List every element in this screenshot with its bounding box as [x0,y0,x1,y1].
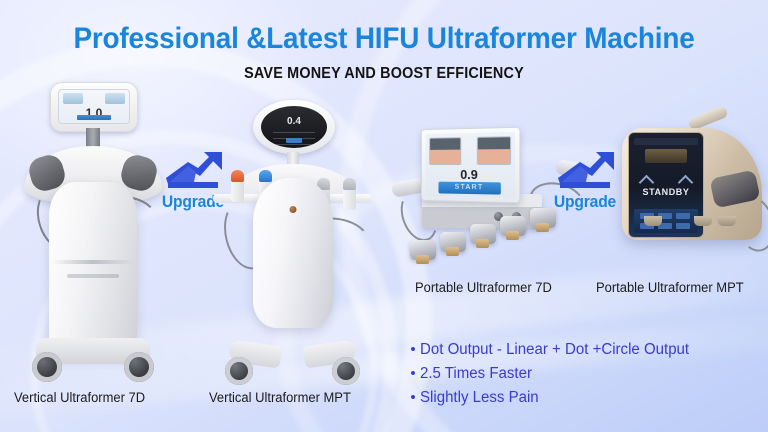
feature-item: • 2.5 Times Faster [406,364,766,383]
v7d-caster-left [32,352,62,382]
vmpt-display-ring: 0.4 [253,100,335,154]
feature-list: • Dot Output - Linear + Dot +Circle Outp… [406,340,766,412]
pmpt-cartridge-info [645,149,687,163]
v7d-thumbnail-left [63,93,83,104]
vmpt-handpiece-blue-cap [259,170,272,182]
bullet-icon: • [406,388,420,407]
pmpt-display-screen: STANDBY [628,132,704,238]
pmpt-foot-right [718,216,736,226]
v7d-progress-bar [77,115,111,120]
pmpt-foot-middle [694,216,712,226]
pmpt-status-bar [634,138,698,145]
p7d-cartridge-4 [500,216,526,236]
pmpt-key-6 [676,223,690,229]
vmpt-tower-body [253,178,333,328]
vmpt-action-button [286,138,302,143]
product-image-vertical-ultraformer-mpt: 0.4 [215,100,370,385]
vmpt-handpiece-grey-2 [343,178,356,210]
bullet-icon: • [406,340,420,359]
feature-text: Slightly Less Pain [420,388,539,407]
v7d-thumbnail-right [105,93,125,104]
pmpt-foot-left [644,216,662,226]
p7d-start-button[interactable]: START [438,182,500,195]
vmpt-indicator-light [289,206,296,213]
product-caption-vertical-7d: Vertical Ultraformer 7D [14,390,145,405]
p7d-cartridge-1 [410,240,436,260]
p7d-cartridge-2-tip [446,247,459,256]
bullet-icon: • [406,364,420,383]
feature-item: • Slightly Less Pain [406,388,766,407]
page-title: Professional &Latest HIFU Ultraformer Ma… [27,22,741,56]
v7d-tower-body [49,182,137,357]
pmpt-key-3 [676,213,690,219]
p7d-cartridge-3 [470,224,496,244]
product-caption-portable-mpt: Portable Ultraformer MPT [596,280,744,295]
p7d-preview-panel-right [477,136,511,165]
promo-poster: Professional &Latest HIFU Ultraformer Ma… [0,0,768,432]
p7d-cartridge-4-tip [506,231,519,240]
product-image-vertical-ultraformer-7d: 1.0 [18,82,168,382]
p7d-cartridge-5-tip [536,223,549,232]
vmpt-caster-right [332,357,360,385]
vmpt-caster-left [225,357,253,385]
vmpt-handpiece-orange [231,170,244,202]
v7d-display-screen: 1.0 [58,89,130,124]
product-caption-vertical-mpt: Vertical Ultraformer MPT [209,390,351,405]
p7d-depth-value: 0.9 [426,167,516,183]
feature-text: Dot Output - Linear + Dot +Circle Output [420,340,689,359]
p7d-cartridge-3-tip [476,239,489,248]
p7d-preview-panel-left [429,137,461,165]
v7d-display-bezel: 1.0 [50,82,138,132]
p7d-cartridge-1-tip [416,255,429,264]
p7d-cartridge-2 [440,232,466,252]
pmpt-status-text: STANDBY [629,187,703,197]
page-subtitle: SAVE MONEY AND BOOST EFFICIENCY [38,65,729,83]
p7d-display-bezel: 0.9 START [421,127,520,204]
vmpt-depth-value: 0.4 [261,116,327,127]
vmpt-handpiece-grey-2-cap [343,178,356,190]
v7d-brand-mark [67,274,119,278]
v7d-caster-right [124,352,154,382]
vmpt-handpiece-orange-cap [231,170,244,182]
feature-text: 2.5 Times Faster [420,364,532,383]
product-caption-portable-7d: Portable Ultraformer 7D [415,280,552,295]
vmpt-display-screen: 0.4 [261,106,327,148]
v7d-body-seam [52,260,134,264]
feature-item: • Dot Output - Linear + Dot +Circle Outp… [406,340,766,359]
p7d-display-screen: 0.9 START [426,132,516,198]
product-image-portable-ultraformer-mpt: STANDBY [612,110,768,270]
